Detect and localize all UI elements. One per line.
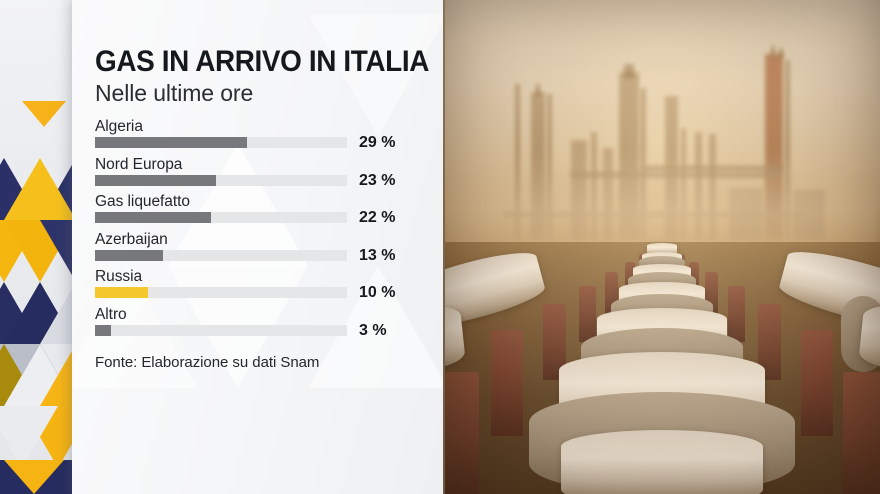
bar-row: Algeria29 % [95,117,444,155]
bar-value-label: 13 % [359,247,395,265]
bar-track [95,175,347,186]
card-content: GAS IN ARRIVO IN ITALIA Nelle ultime ore… [72,0,444,494]
bar-row: Russia10 % [95,267,444,305]
bar-fill [95,212,211,223]
source-note: Fonte: Elaborazione su dati Snam [95,354,444,371]
bar-fill [95,175,216,186]
bar-line: 23 % [95,175,444,186]
bar-line: 29 % [95,137,444,148]
page-subtitle: Nelle ultime ore [95,79,444,108]
bar-line: 3 % [95,325,444,336]
bar-row: Nord Europa23 % [95,155,444,193]
bar-track [95,250,347,261]
decor-triangle-gold-bottom [4,460,64,494]
bar-row: Gas liquefatto22 % [95,192,444,230]
photo-left-edge [443,0,445,494]
bar-row: Azerbaijan13 % [95,230,444,268]
broadcast-graphic-screen: GAS IN ARRIVO IN ITALIA Nelle ultime ore… [0,0,880,494]
decor-triangle-gold-large-up [4,158,76,220]
page-title: GAS IN ARRIVO IN ITALIA [95,46,420,77]
bar-fill [95,287,148,298]
bar-track [95,325,347,336]
bar-track [95,137,347,148]
bar-line: 22 % [95,212,444,223]
bar-fill [95,250,163,261]
bar-track [95,287,347,298]
bar-track [95,212,347,223]
bar-fill [95,325,111,336]
bar-chart: Algeria29 %Nord Europa23 %Gas liquefatto… [95,117,444,342]
bar-value-label: 10 % [359,284,395,302]
stat-card: GAS IN ARRIVO IN ITALIA Nelle ultime ore… [72,0,444,494]
bar-line: 10 % [95,287,444,298]
bar-row: Altro3 % [95,305,444,343]
bar-value-label: 3 % [359,322,387,340]
bar-value-label: 23 % [359,172,395,190]
refinery-pipeline-photo [443,0,880,494]
bar-row-label: Altro [95,305,444,324]
bar-line: 13 % [95,250,444,261]
decor-triangle-yellow-down-small [22,101,66,127]
bar-fill [95,137,247,148]
left-decor-panel [0,0,78,494]
decor-triangle-light-down-1 [0,406,58,468]
bar-value-label: 29 % [359,134,395,152]
bar-value-label: 22 % [359,209,395,227]
